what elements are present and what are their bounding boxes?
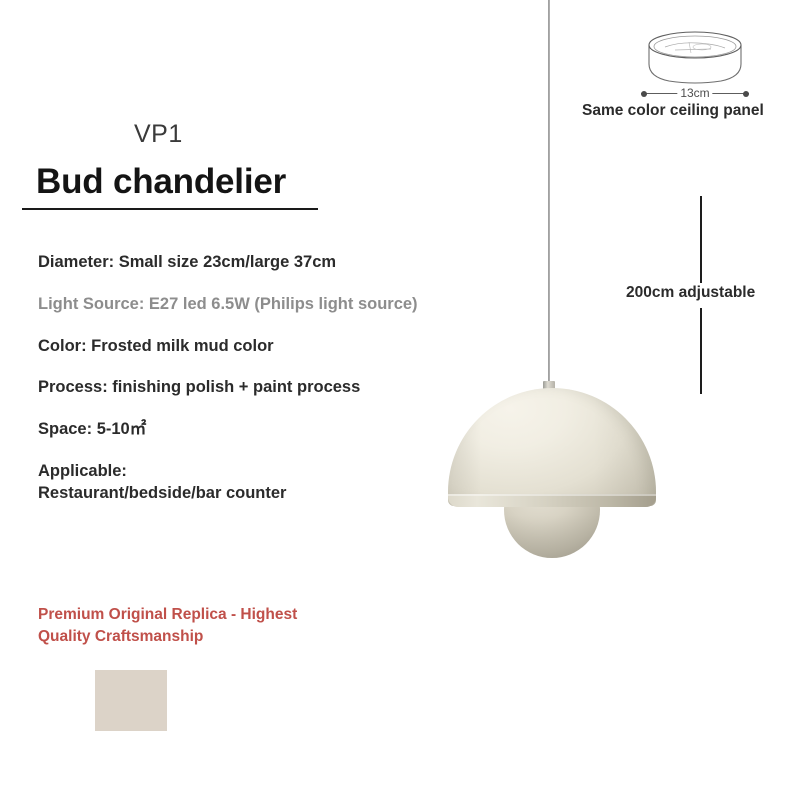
ceiling-panel-diagram-icon	[645, 28, 745, 86]
dimension-endpoint-right	[743, 91, 749, 97]
color-swatch	[95, 670, 167, 731]
page-title: Bud chandelier	[36, 162, 286, 202]
spec-item-applicable: Applicable: Restaurant/bedside/bar count…	[38, 461, 508, 505]
spec-item-diameter: Diameter: Small size 23cm/large 37cm	[38, 252, 508, 274]
promo-tagline: Premium Original Replica - Highest Quali…	[38, 604, 398, 648]
suspension-cord	[548, 0, 550, 392]
dimension-line-lower	[700, 308, 702, 394]
spec-item-color: Color: Frosted milk mud color	[38, 336, 508, 358]
specification-list: Diameter: Small size 23cm/large 37cm Lig…	[38, 252, 508, 504]
dimension-line-upper	[700, 196, 702, 284]
spec-item-space: Space: 5-10㎡	[38, 419, 508, 441]
dimension-endpoint-left	[641, 91, 647, 97]
dimension-13cm-label: 13cm	[677, 84, 712, 102]
product-infographic: VP1 Bud chandelier Diameter: Small size …	[0, 0, 800, 800]
drop-length-label: 200cm adjustable	[622, 283, 759, 303]
title-underline-divider	[22, 208, 318, 210]
product-model-label: VP1	[134, 120, 183, 149]
spec-item-light-source: Light Source: E27 led 6.5W (Philips ligh…	[38, 294, 508, 316]
ceiling-panel-caption: Same color ceiling panel	[582, 102, 764, 120]
dimension-13cm: 13cm	[641, 84, 749, 102]
spec-item-process: Process: finishing polish + paint proces…	[38, 377, 508, 399]
